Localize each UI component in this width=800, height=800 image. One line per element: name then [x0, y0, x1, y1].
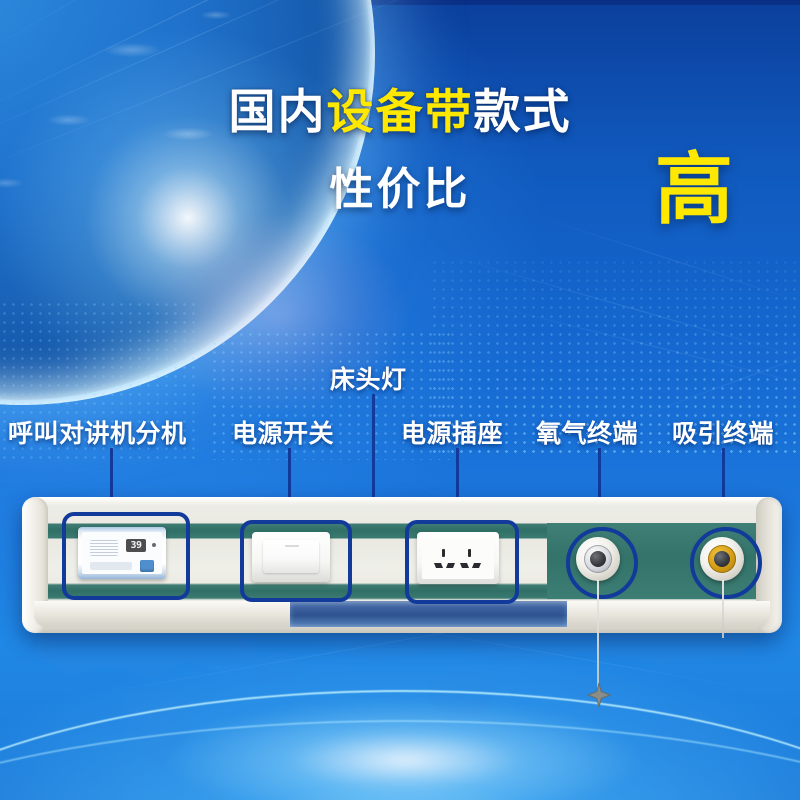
- subtitle-text: 性价比: [330, 165, 471, 214]
- headline-segment-white-right: 款式: [474, 85, 572, 138]
- callout-label-bed-lamp: 床头灯: [330, 360, 407, 396]
- callout-label-power-socket: 电源插座: [401, 414, 503, 450]
- oxygen-pull-cord[interactable]: [597, 580, 599, 690]
- callout-label-intercom: 呼叫对讲机分机: [8, 414, 187, 450]
- bed-lamp-light-strip[interactable]: [290, 601, 567, 627]
- pull-cord-pendant-icon: [586, 682, 612, 708]
- highlight-circle-oxygen: [566, 527, 638, 599]
- page-title: 国内设备带款式: [0, 88, 800, 135]
- emphasis-word: 高: [655, 150, 733, 228]
- headline-segment-highlight: 设备带: [327, 85, 474, 138]
- highlight-box-power-switch: [240, 520, 352, 602]
- suction-pull-cord[interactable]: [722, 580, 724, 638]
- callout-label-power-switch: 电源开关: [232, 414, 334, 450]
- callout-label-oxygen: 氧气终端: [536, 414, 638, 450]
- headline-segment-white-left: 国内: [229, 85, 327, 138]
- highlight-circle-suction: [690, 527, 762, 599]
- banner-canvas: 国内设备带款式 性价比 高 呼叫对讲机分机 电源开关 床头灯 电源插座 氧气终端…: [0, 0, 800, 800]
- callout-label-suction: 吸引终端: [672, 414, 774, 450]
- highlight-box-intercom: [62, 512, 190, 600]
- highlight-box-power-socket: [405, 520, 519, 604]
